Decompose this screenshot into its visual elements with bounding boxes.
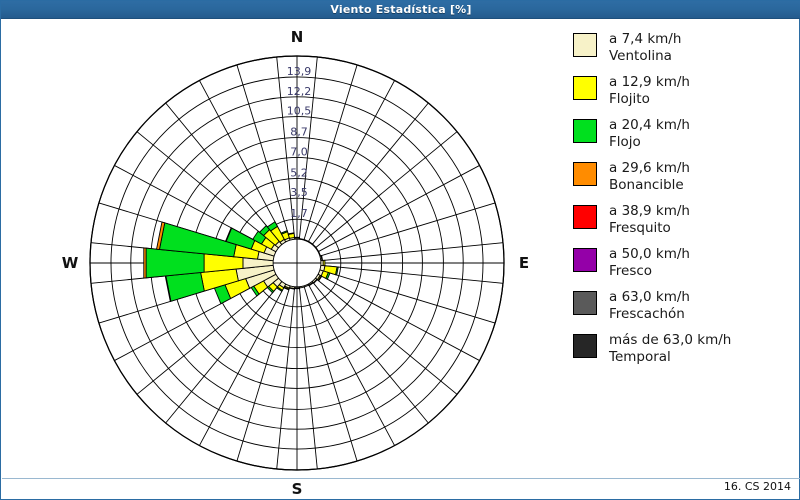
legend-label-1-line1: a 12,9 km/h: [609, 74, 690, 90]
legend-label-6-line1: a 63,0 km/h: [609, 289, 690, 305]
legend-label-2: a 20,4 km/h Flojo: [609, 117, 690, 151]
legend-label-5-line1: a 50,0 km/h: [609, 246, 690, 262]
legend-swatch-3: [573, 162, 597, 186]
legend-label-4: a 38,9 km/h Fresquito: [609, 203, 690, 237]
radial-tick-1: 3,5: [290, 186, 308, 199]
legend-label-1-line2: Flojito: [609, 91, 690, 108]
petal-SSE-Ventolina: [304, 284, 309, 287]
legend-item-2[interactable]: a 20,4 km/h Flojo: [573, 117, 795, 151]
legend-label-6: a 63,0 km/h Frescachón: [609, 289, 690, 323]
compass-label-w: W: [62, 254, 79, 272]
radial-tick-6: 12,2: [287, 85, 312, 98]
radial-tick-4: 8,7: [290, 126, 308, 139]
radial-tick-2: 5,2: [290, 166, 308, 179]
compass-label-e: E: [519, 254, 529, 272]
legend-label-7-line2: Temporal: [609, 349, 731, 366]
legend-item-0[interactable]: a 7,4 km/h Ventolina: [573, 31, 795, 65]
radial-tick-labels: 1,73,55,27,08,710,512,213,9: [287, 65, 312, 220]
legend-item-3[interactable]: a 29,6 km/h Bonancible: [573, 160, 795, 194]
legend-item-4[interactable]: a 38,9 km/h Fresquito: [573, 203, 795, 237]
legend-label-3: a 29,6 km/h Bonancible: [609, 160, 690, 194]
legend-label-6-line2: Frescachón: [609, 306, 690, 323]
wind-rose-svg: 1,73,55,27,08,710,512,213,9 NESW: [2, 20, 568, 499]
legend-swatch-0: [573, 33, 597, 57]
legend-label-3-line2: Bonancible: [609, 177, 690, 194]
legend-swatch-1: [573, 76, 597, 100]
legend-label-7-line1: más de 63,0 km/h: [609, 332, 731, 348]
petal-N-Flojito: [294, 237, 299, 238]
petal-SbE-Ventolina: [299, 286, 304, 288]
petal-NbE-Ventolina: [299, 239, 304, 240]
petal-S-Flojito: [294, 288, 299, 289]
petal-NNE-Ventolina: [304, 239, 309, 241]
petal-W-Bonancible: [144, 248, 146, 278]
compass-label-s: S: [292, 480, 303, 498]
compass-label-n: N: [291, 28, 304, 46]
legend-label-2-line2: Flojo: [609, 134, 690, 151]
legend-label-0-line1: a 7,4 km/h: [609, 31, 681, 47]
radial-tick-0: 1,7: [290, 207, 308, 220]
legend-label-0-line2: Ventolina: [609, 48, 681, 65]
legend-label-0: a 7,4 km/h Ventolina: [609, 31, 681, 65]
legend-label-2-line1: a 20,4 km/h: [609, 117, 690, 133]
legend-swatch-7: [573, 334, 597, 358]
legend-label-1: a 12,9 km/h Flojito: [609, 74, 690, 108]
legend-item-6[interactable]: a 63,0 km/h Frescachón: [573, 289, 795, 323]
radial-tick-3: 7,0: [290, 145, 308, 158]
legend-swatch-4: [573, 205, 597, 229]
legend-label-5: a 50,0 km/h Fresco: [609, 246, 690, 280]
window-title-bar: Viento Estadística [%]: [1, 1, 800, 19]
legend-label-4-line1: a 38,9 km/h: [609, 203, 690, 219]
petal-WbS-Flojo: [166, 272, 205, 301]
footer-divider: [2, 478, 800, 479]
wind-rose-plot: 1,73,55,27,08,710,512,213,9 NESW: [2, 20, 568, 499]
legend-label-4-line2: Fresquito: [609, 220, 690, 237]
legend: a 7,4 km/h Ventolina a 12,9 km/h Flojito…: [573, 31, 795, 375]
legend-swatch-5: [573, 248, 597, 272]
legend-item-1[interactable]: a 12,9 km/h Flojito: [573, 74, 795, 108]
petal-NEbN-Ventolina: [308, 241, 312, 244]
window-title: Viento Estadística [%]: [330, 3, 471, 16]
legend-item-7[interactable]: más de 63,0 km/h Temporal: [573, 332, 795, 366]
legend-item-5[interactable]: a 50,0 km/h Fresco: [573, 246, 795, 280]
legend-label-3-line1: a 29,6 km/h: [609, 160, 690, 176]
legend-swatch-6: [573, 291, 597, 315]
wind-rose-window: Viento Estadística [%] 1,73,55,27,08,710…: [0, 0, 800, 500]
petal-E-Flojito: [323, 260, 325, 266]
petal-NEbE-Ventolina: [316, 247, 319, 251]
legend-swatch-2: [573, 119, 597, 143]
petal-ENE-Ventolina: [318, 251, 320, 256]
legend-label-5-line2: Fresco: [609, 263, 690, 280]
petal-NE-Ventolina: [312, 244, 316, 248]
legend-label-7: más de 63,0 km/h Temporal: [609, 332, 731, 366]
footer-credit: 16. CS 2014: [724, 480, 791, 493]
radial-tick-5: 10,5: [287, 105, 312, 118]
radial-tick-7: 13,9: [287, 65, 312, 78]
